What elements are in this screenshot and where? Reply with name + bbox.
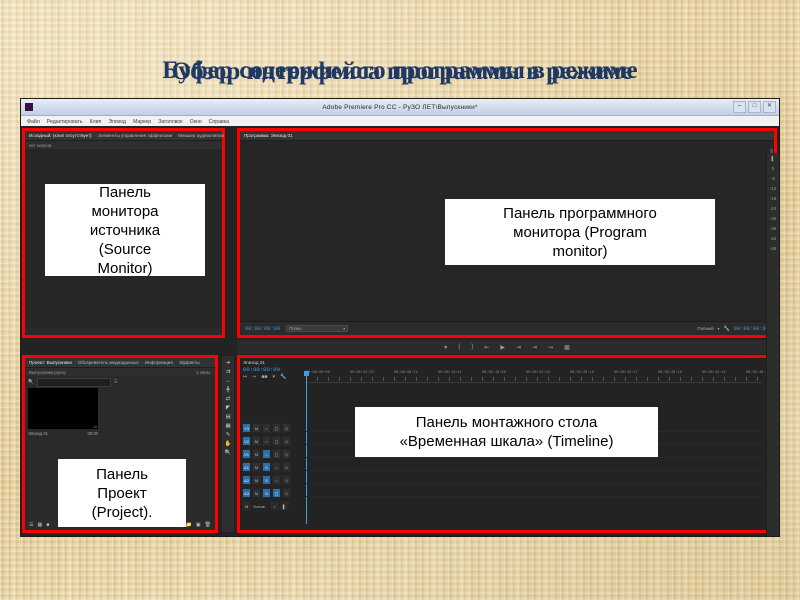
program-monitor-tabs[interactable]: Программа: Эпизод 01 <box>240 131 774 141</box>
menu-item-window[interactable]: Окно <box>190 119 202 125</box>
slide-title: Буфер содержимого программы в режиме ред… <box>60 24 740 102</box>
meter-scale-12: -12 <box>770 186 776 191</box>
track-name-v2[interactable]: V2 <box>242 436 251 446</box>
tab-audio-clip-mixer[interactable]: Микшер аудиоклипов <box>178 133 224 138</box>
track-name-a2[interactable]: A2 <box>242 475 251 485</box>
ruler-label-9: 00:00:44:15 <box>702 371 726 375</box>
linked-selection-icon[interactable]: ∾ <box>252 374 256 380</box>
filter-icon[interactable]: ☰ <box>114 379 118 385</box>
wrench-icon[interactable]: 🔧 <box>724 326 730 332</box>
track-solo-icon-a2[interactable]: S <box>262 475 271 485</box>
tab-info[interactable]: Информация <box>145 360 173 365</box>
track-keyframe-icon-v3[interactable]: ◇ <box>282 423 291 433</box>
menu-item-clip[interactable]: Клип <box>90 119 102 125</box>
window-title-bar: Adobe Premiere Pro CC - РуЗО ЛЕТ\Выпускн… <box>21 99 779 116</box>
track-header-v2[interactable]: V2 M ○ ▢ ◇ <box>242 435 304 447</box>
track-header-a2[interactable]: A2 M S ○ ◇ <box>242 474 304 486</box>
track-record-icon-a3[interactable]: ▢ <box>272 488 281 498</box>
track-keyframe-icon-a2[interactable]: ◇ <box>282 475 291 485</box>
ruler-label-0: 00:00:00:00 <box>306 371 330 375</box>
slide-tool-icon[interactable]: ▦ <box>225 423 230 429</box>
track-keyframe-icon-v2[interactable]: ◇ <box>282 436 291 446</box>
search-icon: 🔍 <box>28 379 34 385</box>
ruler-label-4: 00:00:19:20 <box>482 371 506 375</box>
tab-source-monitor[interactable]: Исходный: (клип отсутствует) <box>29 133 92 138</box>
project-item-name: Эпизод 01 <box>28 431 48 436</box>
program-monitor-fit-label[interactable]: Полный <box>697 326 713 331</box>
minimize-button[interactable]: – <box>733 101 746 113</box>
track-mute-icon-v3[interactable]: M <box>252 423 261 433</box>
callout-timeline-panel: Панель монтажного стола «Временная шкала… <box>355 407 658 457</box>
marker-icon[interactable]: ▾ <box>444 344 447 351</box>
window-controls[interactable]: – □ ✕ <box>733 101 776 113</box>
track-keyframe-icon-v1[interactable]: ◇ <box>282 449 291 459</box>
rolling-edit-tool-icon[interactable]: ╋ <box>226 387 229 393</box>
chevron-down-icon: ▾ <box>343 326 345 331</box>
window-title: Adobe Premiere Pro CC - РуЗО ЛЕТ\Выпускн… <box>21 104 779 111</box>
source-monitor-tabs[interactable]: Исходный: (клип отсутствует) Элементы уп… <box>25 131 222 141</box>
track-lock-icon-v1[interactable]: ○ <box>262 449 271 459</box>
project-item-thumbnail[interactable]: 1с <box>28 388 98 429</box>
wrench-icon-timeline[interactable]: 🔧 <box>280 374 286 380</box>
ruler-label-1: 00:00:04:23 <box>350 371 374 375</box>
tab-effects[interactable]: Эффекты <box>179 360 200 365</box>
project-item-meta: 00:00 <box>88 431 98 436</box>
track-header-master[interactable]: M Основ. ♪ ▌ <box>242 500 304 512</box>
play-icon[interactable]: ▶ <box>500 344 505 351</box>
selection-tool-icon[interactable]: ➔ <box>226 360 231 366</box>
ruler-label-6: 00:00:29:18 <box>570 371 594 375</box>
timeline-playhead[interactable] <box>306 371 307 524</box>
overwrite-icon[interactable]: ↝ <box>548 344 553 351</box>
tab-sequence[interactable]: Эпизод 01 <box>243 360 771 365</box>
tab-project[interactable]: Проект: Выпускники <box>29 360 72 365</box>
track-header-a3[interactable]: A3 M S ▢ ◇ <box>242 487 304 499</box>
track-mute-icon-a1[interactable]: M <box>252 462 261 472</box>
freeform-icon[interactable]: ■ <box>46 522 49 528</box>
ruler-label-3: 00:00:14:21 <box>438 371 462 375</box>
track-record-icon-a2[interactable]: ○ <box>272 475 281 485</box>
meter-scale-48: -48 <box>770 246 776 251</box>
step-back-icon[interactable]: ⇤ <box>484 344 489 351</box>
track-mute-icon-a3[interactable]: M <box>252 488 261 498</box>
track-sync-icon-v2[interactable]: ▢ <box>272 436 281 446</box>
timeline-track-headers[interactable]: V3 M ○ ▢ ◇ V2 M ○ ▢ ◇ V1 <box>242 422 304 513</box>
razor-tool-icon[interactable]: ◤ <box>226 405 230 411</box>
track-header-v1[interactable]: V1 M ○ ▢ ◇ <box>242 448 304 460</box>
track-sync-icon-v1[interactable]: ▢ <box>272 449 281 459</box>
markers-icon[interactable]: ■■ <box>261 374 267 380</box>
zoom-select-value: Полно <box>289 326 301 331</box>
project-panel-tabs[interactable]: Проект: Выпускники Обозреватель медиадан… <box>25 358 215 368</box>
track-name-a1[interactable]: A1 <box>242 462 251 472</box>
track-lock-icon-v2[interactable]: ○ <box>262 436 271 446</box>
master-solo-icon[interactable]: ♪ <box>270 501 279 511</box>
menu-item-edit[interactable]: Редактировать <box>47 119 83 125</box>
project-item-row[interactable]: Эпизод 01 00:00 <box>28 431 98 436</box>
program-monitor-zoom-select[interactable]: Полно ▾ <box>286 325 348 332</box>
callout-project-panel: Панель Проект (Project). <box>58 459 186 527</box>
tab-program-monitor[interactable]: Программа: Эпизод 01 <box>244 133 293 138</box>
project-search-row[interactable]: 🔍 ☰ <box>28 378 212 386</box>
track-name-v3[interactable]: V3 <box>242 423 251 433</box>
menu-item-marker[interactable]: Маркер <box>133 119 151 125</box>
title-line-1: Обзор интерфейса программы в режиме <box>172 58 633 85</box>
timeline-display-icon[interactable]: ▾ <box>272 374 275 380</box>
program-monitor-timecode-left[interactable]: 00:00:00:00 <box>245 326 280 332</box>
icon-view-icon[interactable]: ▦ <box>37 522 42 528</box>
track-keyframe-icon-a3[interactable]: ◇ <box>282 488 291 498</box>
hand-tool-icon[interactable]: ✋ <box>225 441 232 447</box>
ripple-edit-tool-icon[interactable]: ↔ <box>225 378 230 384</box>
ruler-label-5: 00:00:24:19 <box>526 371 550 375</box>
search-input[interactable] <box>37 378 111 387</box>
zoom-tool-icon[interactable]: 🔍 <box>225 450 232 456</box>
meter-scale-30: -30 <box>770 216 776 221</box>
snap-icon[interactable]: ↦ <box>243 374 247 380</box>
pen-tool-icon[interactable]: ✎ <box>226 432 231 438</box>
thumbnail-duration-badge: 1с <box>93 425 97 429</box>
menu-item-sequence[interactable]: Эпизод <box>108 119 126 125</box>
project-panel-subheader: Выпускники.prproj 1 элем. <box>25 368 215 376</box>
tab-media-browser[interactable]: Обозреватель медиаданных <box>78 360 139 365</box>
track-solo-icon-a3[interactable]: S <box>262 488 271 498</box>
menu-item-file[interactable]: Файл <box>27 119 40 125</box>
source-monitor-status-bar: нет клипов <box>25 141 222 149</box>
ruler-label-8: 00:00:39:16 <box>658 371 682 375</box>
callout-program-monitor: Панель программного монитора (Program mo… <box>445 199 715 265</box>
track-sync-icon-v3[interactable]: ▢ <box>272 423 281 433</box>
track-header-a1[interactable]: A1 M S ○ ◇ <box>242 461 304 473</box>
program-monitor-timecode-right[interactable]: 00:00:00:00 <box>734 326 769 332</box>
mark-in-icon[interactable]: { <box>458 344 460 350</box>
master-meter-icon[interactable]: ▌ <box>280 501 289 511</box>
mark-out-icon[interactable]: } <box>471 344 473 350</box>
insert-icon[interactable]: ⇥ <box>532 344 537 351</box>
project-item-count: 1 элем. <box>196 370 211 375</box>
playback-transport-bar[interactable]: ▾ { } ⇤ ▶ ⇥ ⇥ ↝ ▩ <box>237 340 777 354</box>
chevron-down-icon-2[interactable]: ▾ <box>718 326 720 331</box>
delete-icon[interactable]: 🗑 <box>205 522 211 528</box>
track-solo-icon-a1[interactable]: S <box>262 462 271 472</box>
export-frame-icon[interactable]: ▩ <box>564 344 570 351</box>
ruler-label-7: 00:00:34:17 <box>614 371 638 375</box>
meter-scale-24: -24 <box>770 206 776 211</box>
master-track-label: Основ. <box>253 504 266 509</box>
track-select-tool-icon[interactable]: ⇉ <box>226 369 231 375</box>
track-lock-icon-v3[interactable]: ○ <box>262 423 271 433</box>
master-mute-icon[interactable]: M <box>242 501 251 511</box>
tools-panel[interactable]: ➔ ⇉ ↔ ╋ ⇄ ◤ ▤ ▦ ✎ ✋ 🔍 <box>221 355 235 533</box>
meter-scale-36: -36 <box>770 226 776 231</box>
tab-effect-controls[interactable]: Элементы управления эффектами <box>98 133 173 138</box>
timeline-ruler[interactable]: 00:00:00:00 00:00:04:23 00:00:09:22 00:0… <box>306 371 762 383</box>
track-header-v3[interactable]: V3 M ○ ▢ ◇ <box>242 422 304 434</box>
track-mute-icon-v2[interactable]: M <box>252 436 261 446</box>
close-button[interactable]: ✕ <box>763 101 776 113</box>
callout-source-monitor: Панель монитора источника (Source Monito… <box>45 184 205 276</box>
meter-scale-6: -6 <box>771 176 775 181</box>
ruler-label-2: 00:00:09:22 <box>394 371 418 375</box>
menu-item-title[interactable]: Заголовок <box>158 119 182 125</box>
list-view-icon[interactable]: ☰ <box>29 522 33 528</box>
track-mute-icon-v1[interactable]: M <box>252 449 261 459</box>
track-name-a3[interactable]: A3 <box>242 488 251 498</box>
track-name-v1[interactable]: V1 <box>242 449 251 459</box>
right-docked-strip[interactable]: ▌ 0 -6 -12 -18 -24 -30 -36 -42 -48 <box>766 153 779 536</box>
new-item-icon[interactable]: ▣ <box>196 522 201 528</box>
rate-stretch-tool-icon[interactable]: ⇄ <box>226 396 231 402</box>
new-bin-icon[interactable]: 📁 <box>186 522 192 528</box>
meter-scale-42: -42 <box>770 236 776 241</box>
track-mute-icon-a2[interactable]: M <box>252 475 261 485</box>
step-forward-icon[interactable]: ⇥ <box>516 344 521 351</box>
audio-meter-icon[interactable]: ▌ <box>771 156 774 161</box>
project-file-label: Выпускники.prproj <box>29 370 65 375</box>
menu-item-help[interactable]: Справка <box>209 119 229 125</box>
track-record-icon-a1[interactable]: ○ <box>272 462 281 472</box>
meter-scale-0: 0 <box>772 166 774 171</box>
maximize-button[interactable]: □ <box>748 101 761 113</box>
source-monitor-status: нет клипов <box>29 143 51 148</box>
program-monitor-footer[interactable]: 00:00:00:00 Полно ▾ Полный ▾ 🔧 00:00:00:… <box>240 321 774 335</box>
meter-scale-18: -18 <box>770 196 776 201</box>
track-keyframe-icon-a1[interactable]: ◇ <box>282 462 291 472</box>
slip-tool-icon[interactable]: ▤ <box>225 414 230 420</box>
